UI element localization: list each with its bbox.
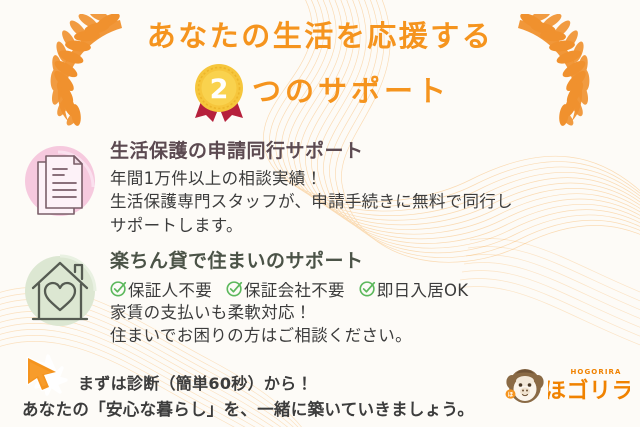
feature-block-welfare-application: 生活保護の申請同行サポート 年間1万件以上の相談実績！ 生活保護専門スタッフが、… [22,138,622,237]
circle-check-icon [226,280,243,297]
banner-title-line-2-row: 2 つのサポート [0,66,640,116]
feature-line: 家賃の支払いも柔軟対応！ [110,301,622,324]
medal-ribbon-icon: 2 [190,60,248,122]
feature-line: 生活保護専門スタッフが、申請手続きに無料で同行し [110,190,622,213]
circle-check-icon [110,280,127,297]
gorilla-mascot-icon: ほ [504,364,546,406]
medal-number: 2 [210,74,229,105]
documents-icon [22,138,104,224]
banner-title-line-2-text: つのサポート [252,77,450,106]
svg-text:ほ: ほ [508,391,514,398]
brand-name: ほゴリラ [548,378,630,404]
footer-cta-line-1: まずは診断（簡単60秒）から！ [78,370,313,394]
feature-check-list: 保証人不要 保証会社不要 即日入居OK [110,277,622,301]
brand-wordmark: HOGORIRA ほゴリラ [548,365,630,405]
brand-logo[interactable]: ほ HOGORIRA ほゴリラ [504,364,630,406]
check-list-label: 即日入居OK [377,277,469,301]
check-list-item: 即日入居OK [359,277,469,301]
circle-check-icon [359,280,376,297]
feature-text-block: 生活保護の申請同行サポート 年間1万件以上の相談実績！ 生活保護専門スタッフが、… [110,138,622,237]
feature-text-block: 楽ちん貸で住まいのサポート 保証人不要 保証会社不要 [110,248,622,348]
brand-romaji: HOGORIRA [570,368,621,376]
banner-footer: まずは診断（簡単60秒）から！ あなたの「安心な暮らし」を、一緒に築いていきまし… [0,352,640,427]
banner-header: あなたの生活を応援する 2 つのサポート [0,0,640,128]
feature-line: 住まいでお困りの方はご相談ください。 [110,324,622,347]
check-list-label: 保証会社不要 [244,277,345,301]
support-banner: あなたの生活を応援する 2 つのサポート [0,0,640,427]
feature-title: 楽ちん貸で住まいのサポート [110,251,622,273]
feature-block-housing-support: 楽ちん貸で住まいのサポート 保証人不要 保証会社不要 [22,248,622,348]
feature-line: 年間1万件以上の相談実績！ [110,167,622,190]
check-list-item: 保証会社不要 [226,277,345,301]
click-cursor-icon [22,354,74,396]
banner-title-line-1: あなたの生活を応援する [0,22,640,51]
feature-line: サポートします。 [110,214,622,237]
feature-title: 生活保護の申請同行サポート [110,141,622,163]
footer-cta-line-2: あなたの「安心な暮らし」を、一緒に築いていきましょう。 [22,396,474,420]
check-list-item: 保証人不要 [110,277,212,301]
house-heart-icon [22,248,104,334]
check-list-label: 保証人不要 [128,277,212,301]
